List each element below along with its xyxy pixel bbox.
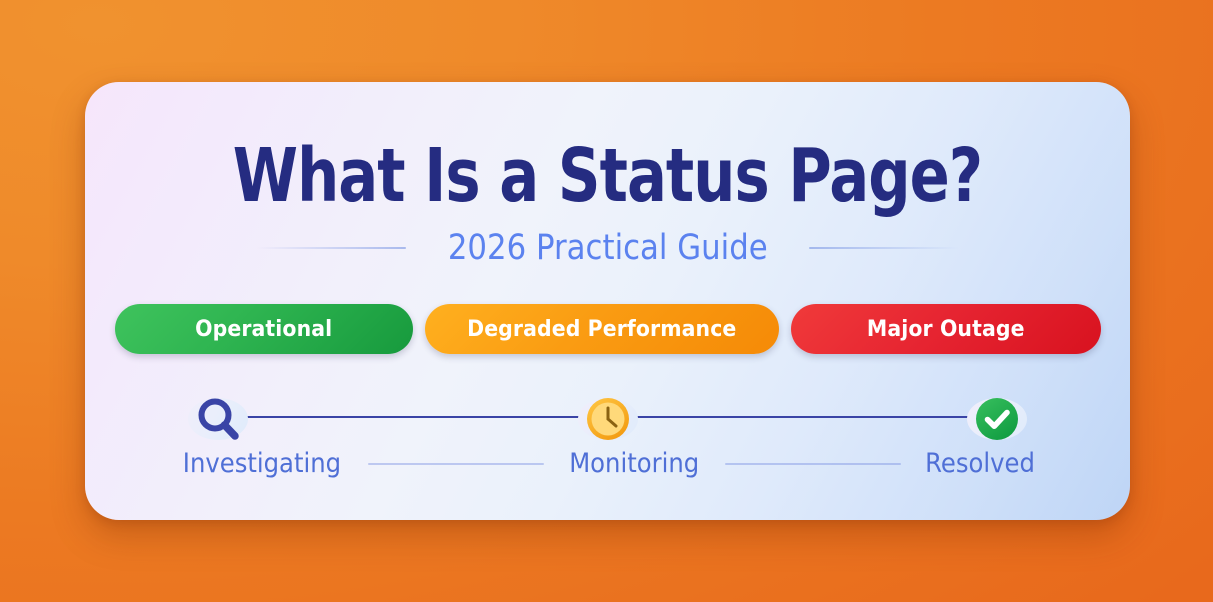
timeline-label-resolved: Resolved — [925, 448, 1035, 480]
subtitle-rule-left — [256, 247, 406, 249]
page-title: What Is a Status Page? — [190, 136, 1026, 216]
status-page-card: What Is a Status Page? 2026 Practical Gu… — [85, 82, 1130, 520]
timeline-node-monitoring[interactable] — [580, 392, 636, 446]
timeline-node-row — [190, 392, 1025, 446]
subtitle-rule-right — [809, 247, 959, 249]
check-circle-icon — [973, 395, 1021, 443]
incident-timeline: Investigating Monitoring Resolved — [190, 392, 1025, 492]
timeline-connector-1 — [368, 463, 544, 465]
status-badge-operational-label: Operational — [195, 317, 332, 342]
timeline-node-investigating[interactable] — [190, 392, 246, 446]
status-badge-degraded-performance-label: Degraded Performance — [467, 317, 736, 342]
status-badge-major-outage-label: Major Outage — [867, 317, 1025, 342]
page-subtitle: 2026 Practical Guide — [448, 228, 768, 268]
status-badge-group: Operational Degraded Performance Major O… — [85, 304, 1130, 354]
clock-icon — [584, 395, 632, 443]
timeline-connector-2 — [725, 463, 901, 465]
magnifier-icon — [193, 394, 243, 444]
status-badge-major-outage[interactable]: Major Outage — [791, 304, 1101, 354]
status-badge-operational[interactable]: Operational — [115, 304, 413, 354]
poster-canvas: What Is a Status Page? 2026 Practical Gu… — [0, 0, 1213, 602]
timeline-label-investigating: Investigating — [183, 448, 341, 480]
timeline-label-monitoring: Monitoring — [569, 448, 699, 480]
timeline-node-resolved[interactable] — [969, 392, 1025, 446]
timeline-label-row: Investigating Monitoring Resolved — [174, 448, 1041, 480]
status-badge-degraded-performance[interactable]: Degraded Performance — [425, 304, 779, 354]
subtitle-row: 2026 Practical Guide — [85, 228, 1130, 268]
